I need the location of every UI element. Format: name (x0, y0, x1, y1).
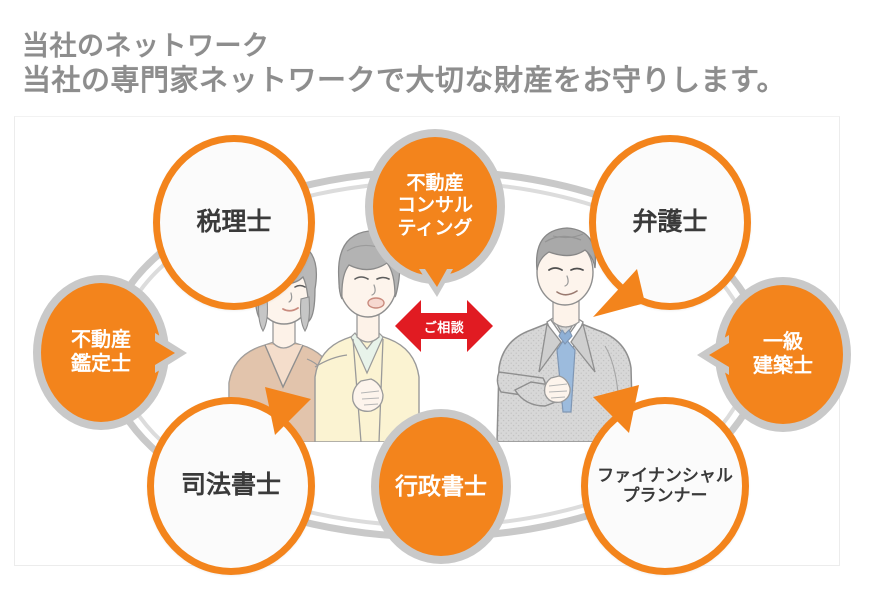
node-first-class-architect[interactable]: 一級 建築士 (715, 277, 851, 432)
consult-arrow: ご相談 (395, 295, 493, 357)
node-administrative-scrivener-label: 行政書士 (395, 473, 487, 500)
node-lawyer-tail (591, 267, 647, 321)
node-tax-accountant[interactable]: 税理士 (153, 135, 315, 310)
node-real-estate-appraiser-label: 不動産 鑑定士 (71, 329, 131, 376)
node-tax-accountant-label: 税理士 (196, 208, 271, 238)
node-real-estate-consulting-label: 不動産 コンサル ティング (397, 173, 473, 240)
node-lawyer-label: 弁護士 (632, 208, 707, 238)
node-first-class-architect-tail (695, 331, 729, 379)
node-judicial-scrivener-label: 司法書士 (181, 471, 281, 501)
node-administrative-scrivener[interactable]: 行政書士 (371, 409, 511, 564)
diagram-stage: ご相談 税理士 不動産 コンサル ティング (15, 117, 841, 567)
page-title: 当社のネットワーク 当社の専門家ネットワークで大切な財産をお守りします。 (22, 30, 852, 99)
node-judicial-scrivener-tail (255, 385, 313, 437)
node-real-estate-appraiser-tail (155, 329, 189, 377)
page-title-line-2: 当社の専門家ネットワークで大切な財産をお守りします。 (22, 63, 852, 99)
node-financial-planner-tail (591, 383, 649, 435)
node-real-estate-consulting[interactable]: 不動産 コンサル ティング (365, 129, 505, 284)
node-first-class-architect-label: 一級 建築士 (753, 331, 813, 378)
diagram-frame: ご相談 税理士 不動産 コンサル ティング (14, 116, 840, 566)
node-financial-planner-label: ファイナンシャル プランナー (597, 466, 733, 506)
network-diagram-page: 当社のネットワーク 当社の専門家ネットワークで大切な財産をお守りします。 (0, 0, 876, 595)
page-title-line-1: 当社のネットワーク (22, 30, 852, 62)
node-real-estate-appraiser[interactable]: 不動産 鑑定士 (33, 275, 169, 430)
node-real-estate-consulting-tail (415, 269, 457, 299)
